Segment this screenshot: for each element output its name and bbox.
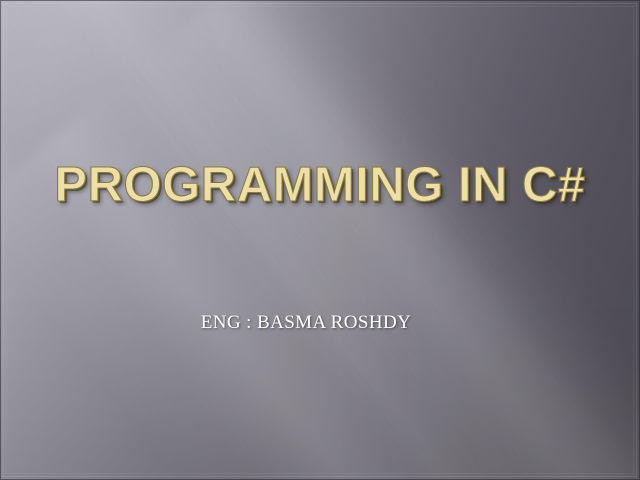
slide-subtitle-presenter: ENG : BASMA ROSHDY	[201, 312, 411, 334]
title-slide: PROGRAMMING IN C# ENG : BASMA ROSHDY	[0, 0, 640, 480]
title-container: PROGRAMMING IN C#	[0, 160, 640, 211]
slide-title: PROGRAMMING IN C#	[54, 160, 585, 211]
background-bottom-shading	[0, 0, 640, 480]
subtitle-container: ENG : BASMA ROSHDY	[0, 312, 640, 334]
